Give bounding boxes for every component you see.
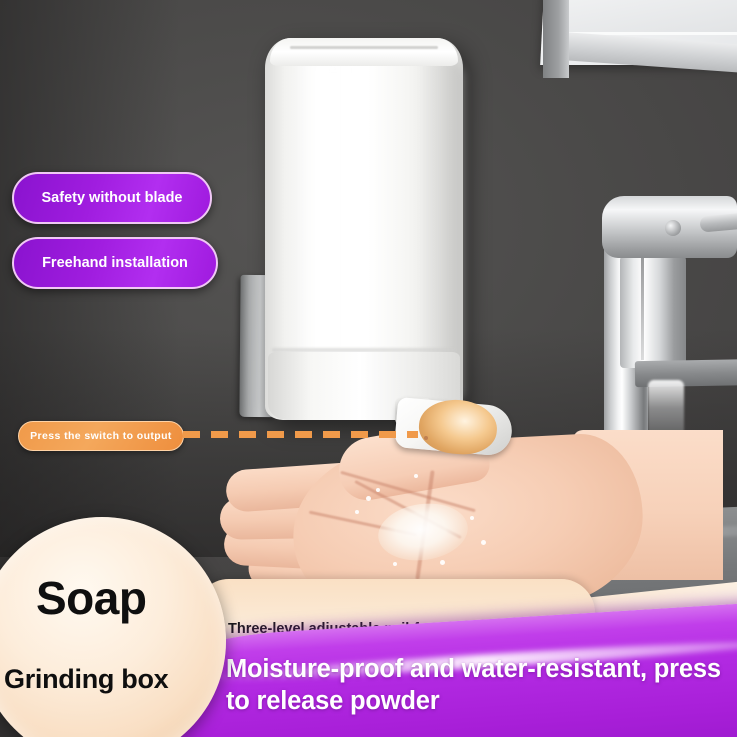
- powder-speck: [440, 560, 445, 565]
- powder-speck: [366, 496, 371, 501]
- nozzle-vent-dot: [424, 436, 428, 440]
- faucet-screw: [665, 220, 681, 236]
- soap-subtitle: Grinding box: [4, 664, 168, 695]
- feature-badge-safety[interactable]: Safety without blade: [12, 172, 212, 224]
- powder-speck: [376, 488, 380, 492]
- dispenser-highlight: [296, 60, 350, 390]
- powder-speck: [355, 510, 359, 514]
- dispenser-lid-seam: [290, 46, 438, 49]
- mirror-cabinet-panel: [560, 0, 737, 35]
- banner-headline-text: Moisture-proof and water-resistant, pres…: [226, 653, 737, 717]
- feature-badge-freehand[interactable]: Freehand installation: [12, 237, 218, 289]
- powder-speck: [470, 516, 474, 520]
- product-photo-scene: Safety without blade Freehand installati…: [0, 0, 737, 737]
- faucet-body: [620, 256, 686, 368]
- powder-speck: [481, 540, 486, 545]
- soap-title: Soap: [36, 571, 146, 625]
- callout-dashed-leader-line: [183, 431, 418, 438]
- dispenser-lid: [270, 38, 458, 66]
- powder-speck: [393, 562, 397, 566]
- callout-press-switch[interactable]: Press the switch to output: [18, 421, 184, 451]
- powder-speck: [414, 474, 418, 478]
- mirror-cabinet-edge: [543, 0, 569, 78]
